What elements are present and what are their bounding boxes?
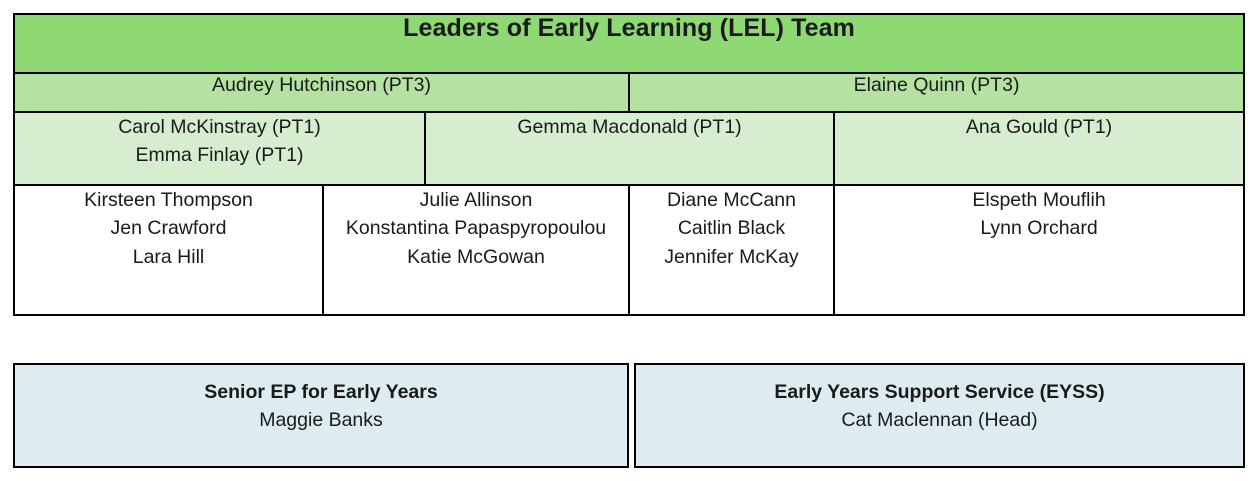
pt1-name-ana-gould: Ana Gould (PT1) <box>835 113 1243 141</box>
support-name-cat-maclennan: Cat Maclennan (Head) <box>636 406 1243 434</box>
member-lynn-orchard: Lynn Orchard <box>835 214 1243 242</box>
table-row-title: Leaders of Early Learning (LEL) Team <box>14 14 1244 73</box>
pt3-cell-elaine-quinn: Elaine Quinn (PT3) <box>629 73 1244 112</box>
table-row-pt1: Carol McKinstray (PT1) Emma Finlay (PT1)… <box>14 112 1244 185</box>
org-chart-page: { "colors": { "header_green": "#8ED973",… <box>0 0 1260 481</box>
member-katie-mcgowan: Katie McGowan <box>324 243 628 271</box>
pt1-name-emma-finlay: Emma Finlay (PT1) <box>15 141 424 169</box>
support-title-eyss: Early Years Support Service (EYSS) <box>636 378 1243 406</box>
member-caitlin-black: Caitlin Black <box>630 214 833 242</box>
table-row-pt3: Audrey Hutchinson (PT3) Elaine Quinn (PT… <box>14 73 1244 112</box>
member-diane-mccann: Diane McCann <box>630 186 833 214</box>
members-cell-1: Kirsteen Thompson Jen Crawford Lara Hill <box>14 185 323 315</box>
pt1-cell-ana-gould: Ana Gould (PT1) <box>834 112 1244 185</box>
members-cell-4: Elspeth Mouflih Lynn Orchard <box>834 185 1244 315</box>
member-jen-crawford: Jen Crawford <box>15 214 322 242</box>
member-jennifer-mckay: Jennifer McKay <box>630 243 833 271</box>
members-cell-2: Julie Allinson Konstantina Papaspyropoul… <box>323 185 629 315</box>
pt3-cell-audrey-hutchinson: Audrey Hutchinson (PT3) <box>14 73 629 112</box>
member-konstantina-papaspyropoulou: Konstantina Papaspyropoulou <box>324 214 628 242</box>
support-box-eyss: Early Years Support Service (EYSS) Cat M… <box>634 363 1245 468</box>
support-services-row: Senior EP for Early Years Maggie Banks E… <box>13 363 1245 468</box>
table-row-members: Kirsteen Thompson Jen Crawford Lara Hill… <box>14 185 1244 315</box>
support-title-senior-ep: Senior EP for Early Years <box>15 378 627 406</box>
pt1-cell-carol-emma: Carol McKinstray (PT1) Emma Finlay (PT1) <box>14 112 425 185</box>
pt1-cell-gemma-macdonald: Gemma Macdonald (PT1) <box>425 112 834 185</box>
member-kirsteen-thompson: Kirsteen Thompson <box>15 186 322 214</box>
member-elspeth-mouflih: Elspeth Mouflih <box>835 186 1243 214</box>
support-box-senior-ep: Senior EP for Early Years Maggie Banks <box>13 363 629 468</box>
member-julie-allinson: Julie Allinson <box>324 186 628 214</box>
members-cell-3: Diane McCann Caitlin Black Jennifer McKa… <box>629 185 834 315</box>
pt1-name-gemma-macdonald: Gemma Macdonald (PT1) <box>426 113 833 141</box>
pt1-name-carol-mckinstray: Carol McKinstray (PT1) <box>15 113 424 141</box>
support-name-maggie-banks: Maggie Banks <box>15 406 627 434</box>
lel-team-table: Leaders of Early Learning (LEL) Team Aud… <box>13 13 1245 316</box>
member-lara-hill: Lara Hill <box>15 243 322 271</box>
page-title: Leaders of Early Learning (LEL) Team <box>14 14 1244 73</box>
